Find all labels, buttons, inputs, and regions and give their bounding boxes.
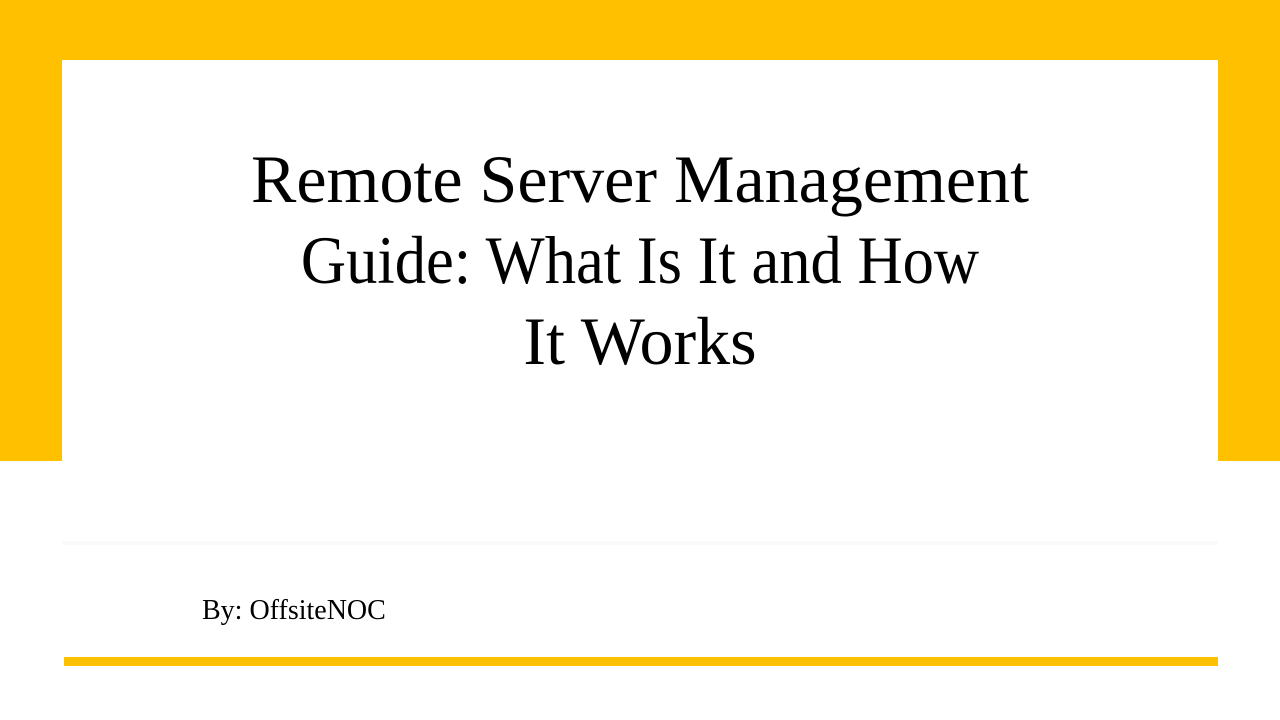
subtitle-divider xyxy=(62,541,1218,545)
title-block: Remote Server Management Guide: What Is … xyxy=(62,60,1218,461)
title-line-1: Remote Server Management xyxy=(135,139,1145,220)
title-line-2: Guide: What Is It and How xyxy=(175,220,1104,301)
subtitle-byline: By: OffsiteNOC xyxy=(202,592,1102,630)
title-line-3: It Works xyxy=(135,301,1145,382)
page-title: Remote Server Management Guide: What Is … xyxy=(135,139,1145,382)
bottom-accent-bar xyxy=(64,657,1218,666)
title-slide: Remote Server Management Guide: What Is … xyxy=(0,0,1280,720)
